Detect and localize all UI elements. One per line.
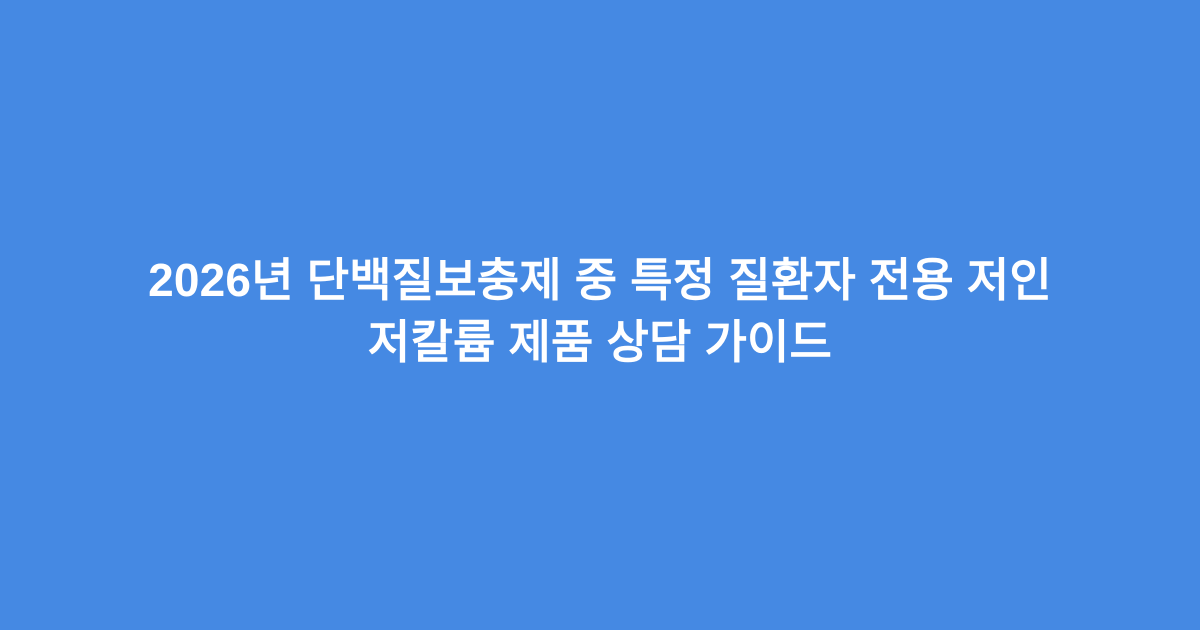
title-card: 2026년 단백질보충제 중 특정 질환자 전용 저인 저칼륨 제품 상담 가이… (0, 0, 1200, 630)
title-line-2: 저칼륨 제품 상담 가이드 (70, 311, 1130, 373)
title-line-1: 2026년 단백질보충제 중 특정 질환자 전용 저인 (70, 249, 1130, 311)
page-title: 2026년 단백질보충제 중 특정 질환자 전용 저인 저칼륨 제품 상담 가이… (70, 249, 1130, 381)
